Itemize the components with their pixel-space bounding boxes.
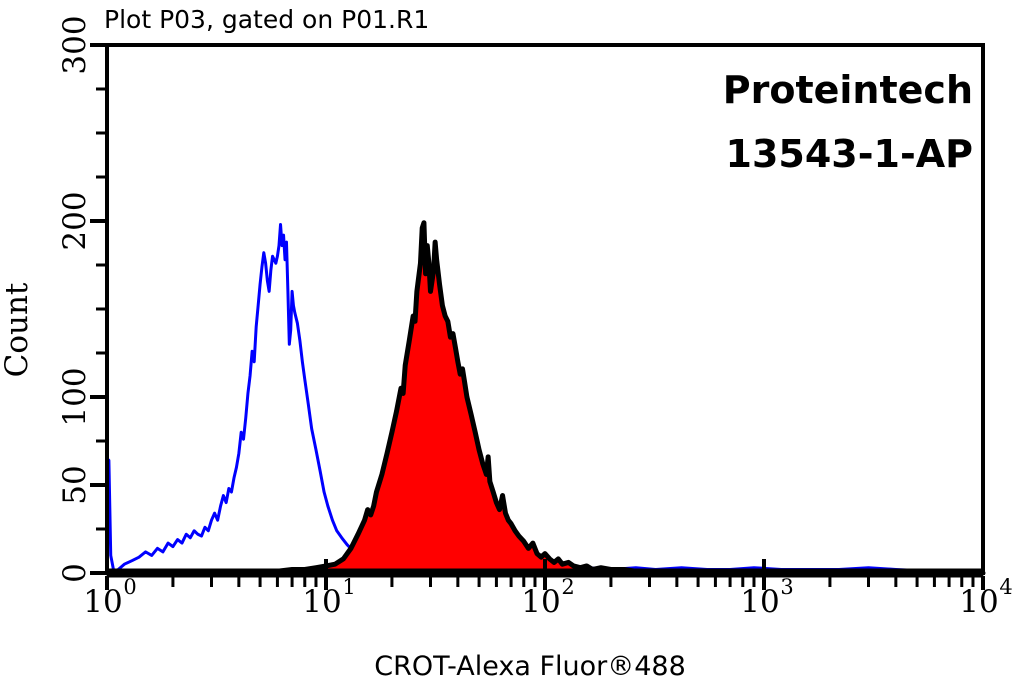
watermark-catalog-number: 13543-1-AP bbox=[726, 132, 973, 176]
y-tick-label: 0 bbox=[57, 563, 93, 583]
plot-title: Plot P03, gated on P01.R1 bbox=[104, 5, 429, 34]
svg-text:0: 0 bbox=[123, 575, 136, 599]
svg-text:1: 1 bbox=[342, 575, 355, 599]
y-axis-title: Count bbox=[0, 282, 35, 377]
watermark-brand: Proteintech bbox=[723, 68, 973, 112]
y-tick-label: 200 bbox=[57, 191, 93, 250]
flow-cytometry-figure: Plot P03, gated on P01.R1 Proteintech 13… bbox=[0, 0, 1015, 684]
histogram-svg: Plot P03, gated on P01.R1 Proteintech 13… bbox=[0, 0, 1015, 684]
svg-text:10: 10 bbox=[302, 584, 341, 620]
svg-text:2: 2 bbox=[561, 575, 574, 599]
svg-text:10: 10 bbox=[521, 584, 560, 620]
y-tick-label: 300 bbox=[57, 15, 93, 74]
y-tick-label: 50 bbox=[57, 465, 93, 504]
svg-text:10: 10 bbox=[740, 584, 779, 620]
svg-text:10: 10 bbox=[83, 584, 122, 620]
y-tick-label: 100 bbox=[57, 367, 93, 426]
svg-text:10: 10 bbox=[959, 584, 998, 620]
svg-text:3: 3 bbox=[780, 575, 793, 599]
x-axis-title: CROT-Alexa Fluor®488 bbox=[374, 651, 686, 682]
svg-text:4: 4 bbox=[999, 575, 1012, 599]
